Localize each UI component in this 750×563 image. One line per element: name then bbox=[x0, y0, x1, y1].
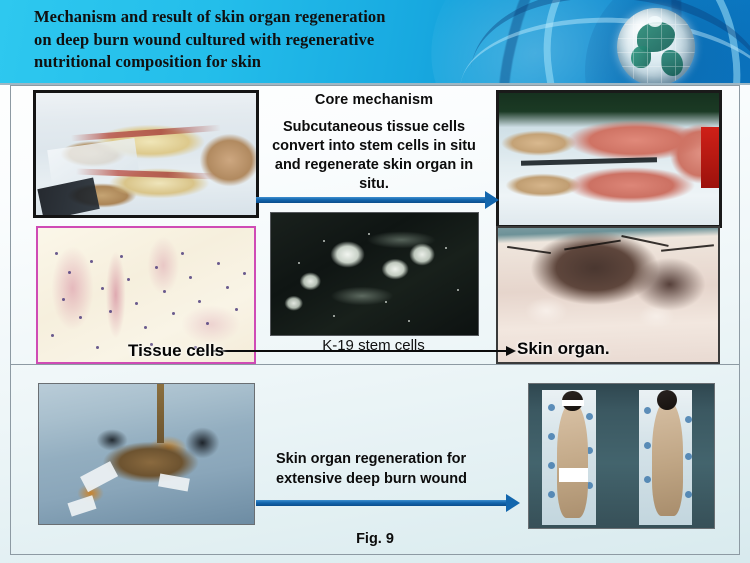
bottom-caption-text: Skin organ regeneration for extensive de… bbox=[276, 450, 526, 489]
core-mechanism-body: Subcutaneous tissue cells convert into s… bbox=[258, 118, 490, 194]
page-title: Mechanism and result of skin organ regen… bbox=[34, 6, 504, 74]
page-title-line-3: nutritional composition for skin bbox=[34, 51, 504, 74]
recovered-patient-photo bbox=[528, 383, 715, 529]
regeneration-result-arrow-icon bbox=[256, 500, 507, 506]
extensive-burn-patient-photo bbox=[38, 383, 255, 525]
tissue-to-skin-organ-arrow-icon bbox=[212, 350, 507, 352]
page-title-line-2: on deep burn wound cultured with regener… bbox=[34, 29, 504, 52]
k19-stem-cells-micrograph bbox=[270, 212, 479, 336]
banner-arc-dark bbox=[461, 0, 750, 83]
deep-burn-wound-legs-photo bbox=[33, 90, 259, 218]
core-mechanism-arrow-icon bbox=[256, 197, 486, 203]
regenerated-legs-photo bbox=[496, 90, 722, 228]
figure-caption: Fig. 9 bbox=[0, 531, 750, 547]
skin-organ-label: Skin organ. bbox=[517, 339, 610, 359]
page-title-line-1: Mechanism and result of skin organ regen… bbox=[34, 6, 504, 29]
globe-icon bbox=[617, 8, 695, 83]
core-mechanism-heading: Core mechanism bbox=[262, 92, 486, 108]
tissue-cells-label: Tissue cells bbox=[128, 341, 224, 361]
slide-canvas: Mechanism and result of skin organ regen… bbox=[0, 0, 750, 563]
header-banner: Mechanism and result of skin organ regen… bbox=[0, 0, 750, 83]
